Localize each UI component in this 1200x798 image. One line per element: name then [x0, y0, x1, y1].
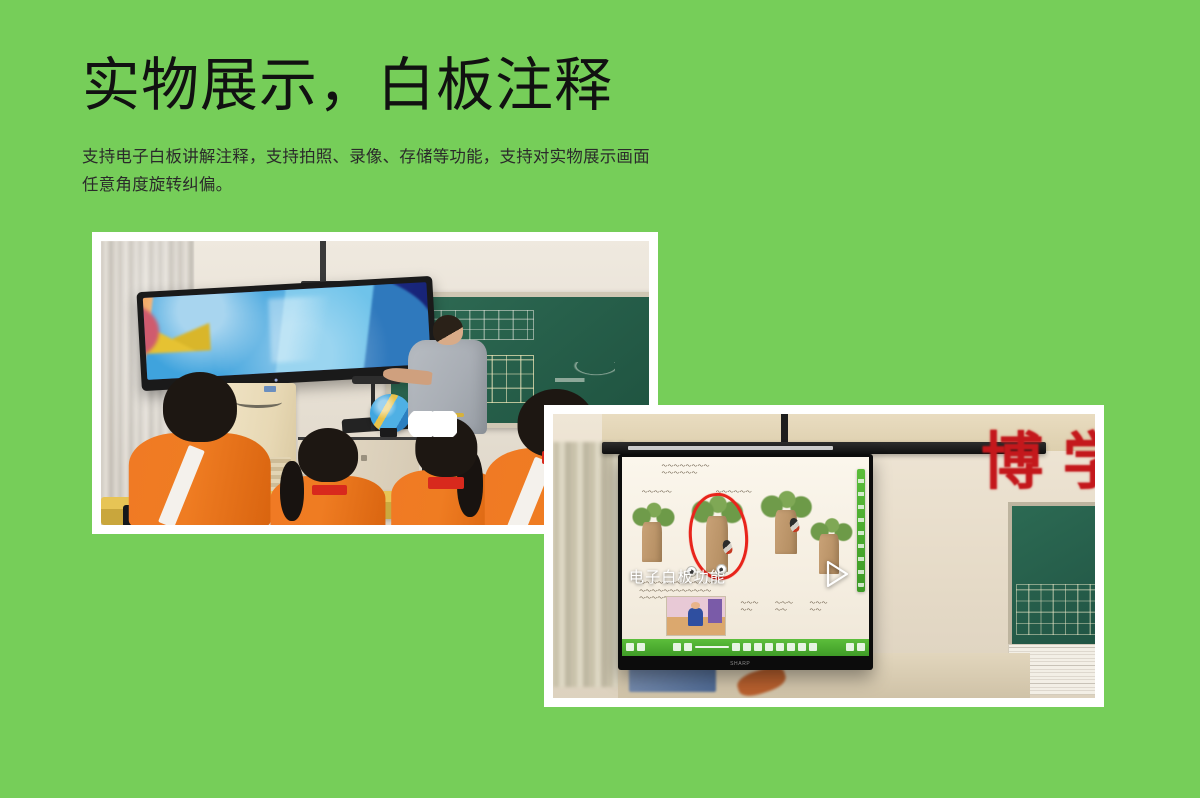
- toolbar-icon-select[interactable]: [673, 643, 681, 651]
- hair-bow: [408, 411, 457, 437]
- chalk-grid: [1016, 584, 1095, 634]
- toolbar-thickness-slider[interactable]: [695, 646, 729, 648]
- student-back-left: [128, 372, 270, 525]
- toolbar-icon-close[interactable]: [857, 643, 865, 651]
- child-illustration: [666, 596, 725, 636]
- handwritten-note-top: ～～～～～～～～ ～～～～～～: [662, 463, 710, 478]
- handwritten-note-bottom-3: ～～～ ～～: [810, 600, 828, 615]
- wall-slogan-char-1: 博: [981, 431, 1043, 493]
- toolbar-icon-undo[interactable]: [765, 643, 773, 651]
- tree-trunk-1: [642, 522, 662, 562]
- window-curtain: [553, 442, 623, 686]
- side-chalkboard: [1008, 502, 1095, 650]
- heading-block: 实物展示，白板注释 支持电子白板讲解注释，支持拍照、录像、存储等功能，支持对实物…: [82, 54, 722, 200]
- red-scarf: [428, 477, 464, 489]
- red-scarf: [312, 485, 347, 496]
- toolbar-icon-text[interactable]: [754, 643, 762, 651]
- student-head: [298, 428, 358, 482]
- student-back-midleft: [271, 428, 386, 525]
- wall-slogan-char-2: 学: [1062, 431, 1095, 493]
- whiteboard-bottom-toolbar[interactable]: [622, 639, 869, 656]
- toolbar-icon-eraser[interactable]: [732, 643, 740, 651]
- student-head: [163, 372, 237, 443]
- display-power-led: [275, 379, 278, 382]
- toolbar-icon-page[interactable]: [809, 643, 817, 651]
- handwritten-note-bottom-2: ～～～ ～～: [775, 600, 793, 615]
- student-uniform: [128, 433, 270, 525]
- page-subtitle: 支持电子白板讲解注释，支持拍照、录像、存储等功能，支持对实物展示画面任意角度旋转…: [82, 143, 662, 200]
- page-root: 实物展示，白板注释 支持电子白板讲解注释，支持拍照、录像、存储等功能，支持对实物…: [0, 0, 1200, 798]
- video-caption: 电子白板功能: [629, 566, 726, 587]
- panel-brand-logo: SHARP: [730, 661, 750, 667]
- whiteboard-annotation-photo[interactable]: 博 学 ～～～～～～～～ ～～～～～～ ～～～～～ ～～～～～～: [544, 405, 1104, 707]
- toolbar-icon-redo[interactable]: [776, 643, 784, 651]
- toolbar-icon-menu[interactable]: [626, 643, 634, 651]
- illustration-child: [688, 608, 703, 626]
- toolbar-icon-new[interactable]: [637, 643, 645, 651]
- toolbar-icon-capture[interactable]: [787, 643, 795, 651]
- page-title: 实物展示，白板注释: [82, 54, 722, 119]
- toolbar-icon-settings[interactable]: [846, 643, 854, 651]
- handwritten-note-left: ～～～～～: [642, 489, 672, 497]
- screen-glare: [268, 293, 368, 363]
- whiteboard-screen[interactable]: ～～～～～～～～ ～～～～～～ ～～～～～ ～～～～～～: [622, 457, 869, 656]
- ceiling-mount-pole: [320, 241, 326, 284]
- photo-two-content: 博 学 ～～～～～～～～ ～～～～～～ ～～～～～ ～～～～～～: [553, 414, 1095, 698]
- toolbar-icon-shape[interactable]: [743, 643, 751, 651]
- illustration-curtain: [708, 599, 723, 622]
- display-screen: [143, 282, 431, 380]
- whiteboard-side-toolbar[interactable]: [857, 469, 865, 592]
- wall-track-rail: [602, 442, 1046, 454]
- toolbar-icon-pen[interactable]: [684, 643, 692, 651]
- handwritten-note-bottom-1: ～～～ ～～: [740, 600, 758, 615]
- toolbar-icon-save[interactable]: [798, 643, 806, 651]
- teacher-head: [433, 315, 464, 345]
- play-triangle-icon[interactable]: [824, 559, 850, 589]
- ceiling-mount-pole: [781, 414, 789, 445]
